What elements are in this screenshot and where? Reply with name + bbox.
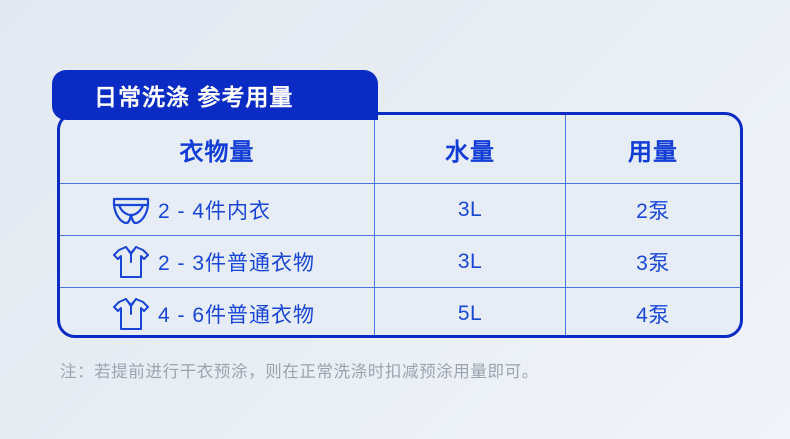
cell-dose: 4泵 xyxy=(565,288,740,338)
usage-guide-card: 日常洗涤 参考用量 衣物量 水量 用量 xyxy=(0,0,790,439)
dose-value: 2泵 xyxy=(636,195,670,225)
cell-water: 5L xyxy=(374,288,565,338)
garment-label: 2 - 4件内衣 xyxy=(158,195,271,225)
table-header-row: 衣物量 水量 用量 xyxy=(60,115,740,183)
header-cell-water: 水量 xyxy=(374,115,565,183)
table-row: 2 - 3件普通衣物 3L 3泵 xyxy=(60,235,740,287)
table-row: 2 - 4件内衣 3L 2泵 xyxy=(60,183,740,235)
dose-value: 3泵 xyxy=(636,247,670,277)
usage-table: 衣物量 水量 用量 2 - 4件内衣 xyxy=(57,112,743,338)
water-value: 3L xyxy=(458,250,482,274)
banner-title: 日常洗涤 参考用量 xyxy=(94,78,293,112)
tshirt-icon xyxy=(108,242,154,282)
header-cell-garment: 衣物量 xyxy=(60,115,374,183)
garment-label: 4 - 6件普通衣物 xyxy=(158,299,315,329)
cell-dose: 2泵 xyxy=(565,184,740,235)
briefs-icon xyxy=(108,190,154,230)
dose-value: 4泵 xyxy=(636,299,670,329)
cell-garment: 2 - 3件普通衣物 xyxy=(60,236,374,287)
header-label-water: 水量 xyxy=(445,132,495,167)
table-row: 4 - 6件普通衣物 5L 4泵 xyxy=(60,287,740,338)
header-label-garment: 衣物量 xyxy=(180,132,255,167)
cell-water: 3L xyxy=(374,184,565,235)
water-value: 5L xyxy=(458,302,482,326)
cell-garment: 4 - 6件普通衣物 xyxy=(60,288,374,338)
banner: 日常洗涤 参考用量 xyxy=(52,70,378,120)
cell-water: 3L xyxy=(374,236,565,287)
header-cell-dose: 用量 xyxy=(565,115,740,183)
cell-garment: 2 - 4件内衣 xyxy=(60,184,374,235)
water-value: 3L xyxy=(458,198,482,222)
cell-dose: 3泵 xyxy=(565,236,740,287)
garment-label: 2 - 3件普通衣物 xyxy=(158,247,315,277)
header-label-dose: 用量 xyxy=(628,132,678,167)
footnote-text: 注：若提前进行干衣预涂，则在正常洗涤时扣减预涂用量即可。 xyxy=(60,358,539,382)
tshirt-icon xyxy=(108,294,154,334)
